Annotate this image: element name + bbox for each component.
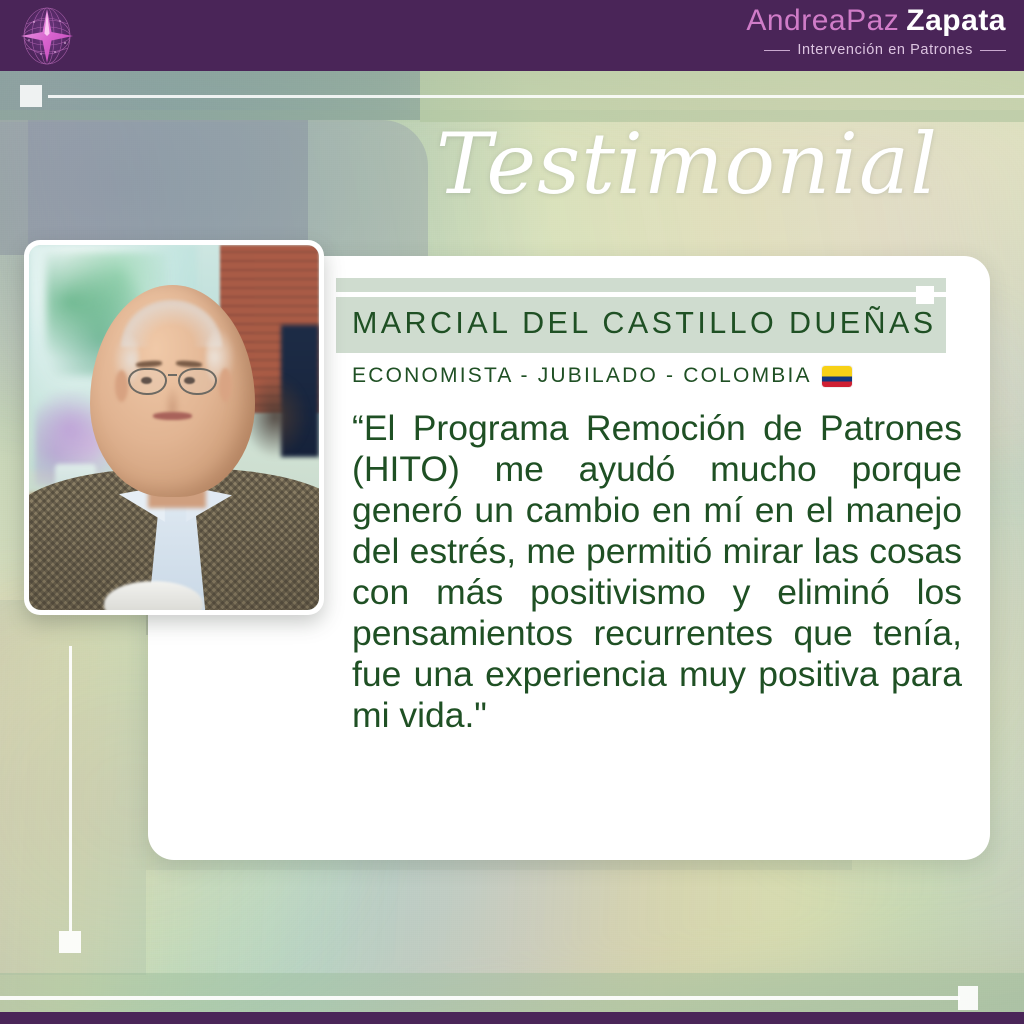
four-pointed-star-sphere-icon — [14, 2, 80, 70]
portrait-frame — [24, 240, 324, 615]
horizontal-accent-line-bottom — [0, 996, 960, 1000]
testimonial-quote: “El Programa Remoción de Patrones (HITO)… — [352, 408, 962, 736]
glasses-bridge — [168, 374, 177, 376]
brand-lockup: AndreaPazZapata Intervención en Patrones — [746, 6, 1006, 58]
photo-ear-left — [115, 370, 128, 402]
panel-bottom-band — [0, 973, 1024, 1012]
square-accent-bottom — [59, 931, 81, 953]
dash-right-icon — [980, 50, 1006, 51]
square-accent-top-left — [20, 85, 42, 107]
dash-left-icon — [764, 50, 790, 51]
colombia-flag-icon — [822, 366, 852, 387]
photo-hair-top — [121, 300, 222, 347]
glasses-lens-left — [128, 368, 167, 396]
horizontal-accent-line-top — [48, 95, 1024, 98]
brand-tagline: Intervención en Patrones — [797, 43, 973, 58]
name-band: MARCIAL DEL CASTILLO DUEÑAS — [336, 278, 946, 353]
brand-name: AndreaPazZapata — [746, 6, 1006, 36]
person-role: ECONOMISTA - JUBILADO - COLOMBIA — [352, 364, 812, 388]
person-name: MARCIAL DEL CASTILLO DUEÑAS — [352, 306, 934, 341]
brand-name-part1: AndreaPaz — [746, 4, 899, 37]
panel-left-tall — [0, 600, 146, 975]
header-bar: AndreaPazZapata Intervención en Patrones — [0, 0, 1024, 71]
photo-nose — [164, 385, 181, 415]
photo-brow-left — [136, 360, 163, 367]
avatar — [29, 245, 319, 610]
square-accent-bottom-right — [958, 986, 978, 1010]
band-accent-square — [916, 286, 934, 304]
footer-bar — [0, 1012, 1024, 1024]
vertical-accent-line — [69, 646, 72, 931]
logo[interactable] — [14, 2, 80, 70]
testimonial-graphic: AndreaPazZapata Intervención en Patrones… — [0, 0, 1024, 1024]
photo-ear-right — [219, 368, 232, 402]
brand-name-part2: Zapata — [906, 4, 1006, 37]
photo-mouth — [153, 412, 193, 420]
page-title: Testimonial — [436, 122, 938, 206]
band-accent-line — [336, 292, 946, 297]
person-role-row: ECONOMISTA - JUBILADO - COLOMBIA — [352, 364, 946, 388]
brand-tagline-row: Intervención en Patrones — [746, 43, 1006, 58]
glasses-lens-right — [178, 368, 217, 396]
testimonial-card-content: MARCIAL DEL CASTILLO DUEÑAS ECONOMISTA -… — [336, 256, 990, 860]
photo-brow-right — [176, 360, 203, 367]
